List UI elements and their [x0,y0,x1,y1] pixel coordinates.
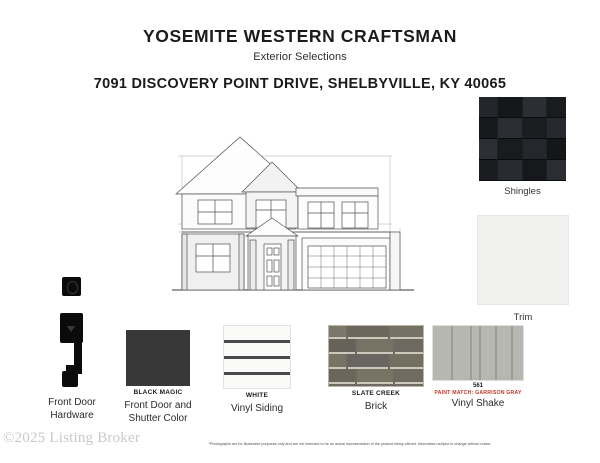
disclaimer-text: *Photographs are for illustrative purpos… [140,442,560,446]
paint-label-line2: Shutter Color [129,413,188,424]
swatch-front-door-and-shutter-color[interactable]: BLACK MAGIC Front Door and Shutter Color [120,330,196,425]
right-swatch-column: Shingles Trim [479,97,566,323]
vinyl-siding-label: Vinyl Siding [218,403,296,416]
brick-swatch-image [328,325,424,387]
page-header: YOSEMITE WESTERN CRAFTSMAN Exterior Sele… [0,0,600,92]
vinyl-shake-label: Vinyl Shake [430,398,526,411]
property-address: 7091 DISCOVERY POINT DRIVE, SHELBYVILLE,… [0,76,600,92]
swatch-shingles[interactable]: Shingles [479,97,566,197]
bottom-swatch-strip: Front Door Hardware BLACK MAGIC Front Do… [0,316,600,422]
swatch-trim[interactable]: Trim [479,215,566,323]
page-subtitle: Exterior Selections [0,51,600,63]
copyright-watermark: ©2025 Listing Broker [3,430,140,447]
door-handleset-icon [36,275,108,393]
swatch-brick[interactable]: SLATE CREEK Brick [326,325,426,414]
vinyl-shake-swatch-image [432,325,524,381]
swatch-front-door-hardware[interactable]: Front Door Hardware [36,275,108,422]
shake-color-code: 561 [430,383,526,389]
paint-label-line1: Front Door and [124,400,191,411]
swatch-vinyl-siding[interactable]: WHITE Vinyl Siding [218,325,296,416]
vinyl-siding-swatch-image [223,325,291,389]
brick-color-name: SLATE CREEK [326,390,426,397]
shingles-swatch-image [479,97,566,181]
siding-color-name: WHITE [218,392,296,399]
brick-label: Brick [326,401,426,414]
shingles-label: Shingles [479,186,566,197]
paint-color-name: BLACK MAGIC [120,389,196,396]
paint-usage-label: Front Door and Shutter Color [120,400,196,425]
front-elevation-drawing [168,104,418,304]
front-door-hardware-label: Front Door Hardware [36,397,108,422]
hardware-label-line1: Front Door [48,397,96,408]
black-magic-paint-chip [126,330,190,386]
shake-paint-match: PAINT MATCH: GARRISON GRAY [430,390,526,396]
swatch-vinyl-shake[interactable]: 561 PAINT MATCH: GARRISON GRAY Vinyl Sha… [430,325,526,411]
page-title: YOSEMITE WESTERN CRAFTSMAN [0,27,600,46]
hardware-label-line2: Hardware [50,410,93,421]
trim-swatch-image [477,215,569,305]
